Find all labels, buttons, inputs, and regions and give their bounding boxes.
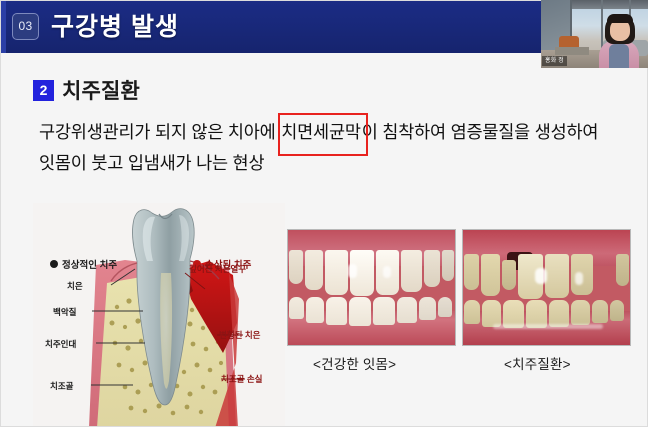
saliva-highlight bbox=[493, 324, 603, 329]
diagram-label-alveolar-bone: 치조골 bbox=[50, 380, 73, 392]
caption-periodontal-disease: <치주질환> bbox=[504, 353, 571, 373]
section-number-badge: 2 bbox=[33, 80, 54, 101]
diagram-label-gingiva: 치은 bbox=[67, 280, 83, 292]
caption-healthy-gums: <건강한 잇몸> bbox=[313, 353, 396, 373]
upper-teeth-row bbox=[288, 250, 455, 296]
paragraph-line-2: 잇몸이 붓고 입냄새가 나는 현상 bbox=[39, 153, 264, 173]
body-paragraph: 구강위생관리가 되지 않은 치아에 치면세균막이 침착하여 염증물질을 생성하여… bbox=[39, 117, 635, 179]
cam-table bbox=[555, 47, 589, 55]
presentation-viewer: 03 구강병 발생 2 치주질환 구강위생관리가 되지 않은 치아에 치면세균막… bbox=[0, 0, 648, 427]
presenter-name-label: 홍화 정 bbox=[542, 56, 567, 66]
diagram-label-bone-loss: 치조골 손실 bbox=[221, 373, 262, 385]
header-accent-stripe bbox=[1, 1, 6, 53]
diagram-label-cementum: 백악질 bbox=[53, 306, 76, 318]
slide-title: 구강병 발생 bbox=[51, 9, 179, 45]
presenter-webcam-overlay[interactable]: 홍화 정 bbox=[541, 0, 648, 68]
diagram-label-deepened-sulcus: 깊어진 치은열구 bbox=[189, 263, 246, 275]
specular-highlight-2 bbox=[575, 272, 583, 285]
legend-normal-periodontium: 정상적인 치주 bbox=[50, 257, 117, 271]
diagram-label-deformed-gingiva: 변형된 치은 bbox=[219, 329, 260, 341]
section-heading: 2 치주질환 bbox=[33, 75, 140, 105]
specular-highlight bbox=[535, 268, 547, 284]
paragraph-part-1: 구강위생관리가 되지 않은 치아에 bbox=[39, 122, 280, 142]
periodontal-disease-photo bbox=[462, 229, 631, 346]
clinical-photo-pair bbox=[287, 229, 631, 346]
periodontium-diagram: 정상적인 치주 손상된 치주 치은 백악질 치주인대 치조골 깊어진 치은열구 … bbox=[33, 203, 285, 427]
chapter-number-badge: 03 bbox=[12, 13, 39, 40]
specular-highlight-2 bbox=[383, 266, 391, 278]
presenter-bangs bbox=[607, 14, 633, 23]
diagram-label-periodontal-ligament: 치주인대 bbox=[45, 338, 76, 350]
slide-body: 2 치주질환 구강위생관리가 되지 않은 치아에 치면세균막이 침착하여 염증물… bbox=[1, 53, 648, 427]
highlighted-term: 치면세균막 bbox=[280, 117, 362, 148]
section-title-text: 치주질환 bbox=[62, 75, 140, 105]
legend-normal-label: 정상적인 치주 bbox=[62, 257, 117, 271]
lower-teeth-row bbox=[288, 297, 455, 327]
paragraph-part-2: 이 침착하여 염증물질을 생성하여 bbox=[362, 122, 599, 142]
legend-dot-black bbox=[50, 260, 58, 268]
healthy-gums-photo bbox=[287, 229, 456, 346]
specular-highlight bbox=[348, 264, 357, 278]
presenter-vest bbox=[609, 44, 629, 68]
